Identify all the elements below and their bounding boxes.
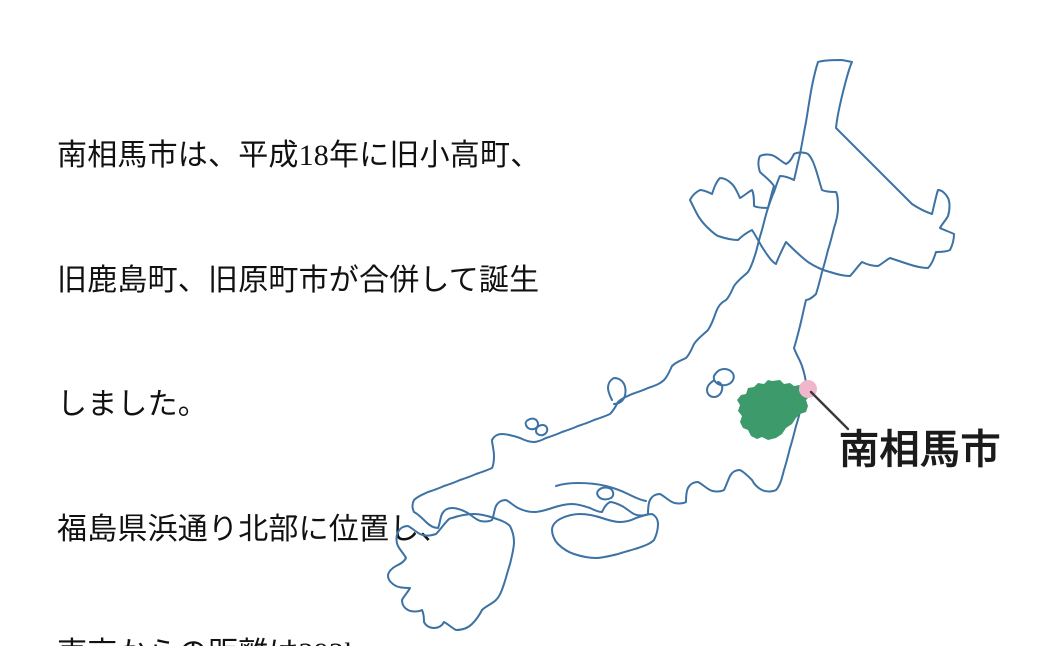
region-honshu — [413, 153, 839, 529]
region-shikoku — [552, 514, 658, 558]
region-sado-island-extension — [707, 381, 722, 397]
coastline-group — [388, 60, 954, 630]
region-kyushu — [388, 514, 514, 630]
region-sado-island — [714, 369, 734, 385]
region-hokkaido — [690, 60, 954, 276]
region-awaji-island — [597, 488, 613, 500]
callout-leader-line — [811, 392, 848, 429]
japan-map-figure: 南相馬市 — [0, 0, 1040, 646]
region-oki-island-b — [536, 425, 547, 435]
japan-map-svg — [0, 0, 1040, 646]
region-noto-peninsula — [608, 378, 626, 404]
minamisoma-callout-label: 南相馬市 — [839, 428, 1001, 472]
map-page: 南相馬市は、平成18年に旧小高町、 旧鹿島町、旧原町市が合併して誕生 しました。… — [0, 0, 1040, 646]
